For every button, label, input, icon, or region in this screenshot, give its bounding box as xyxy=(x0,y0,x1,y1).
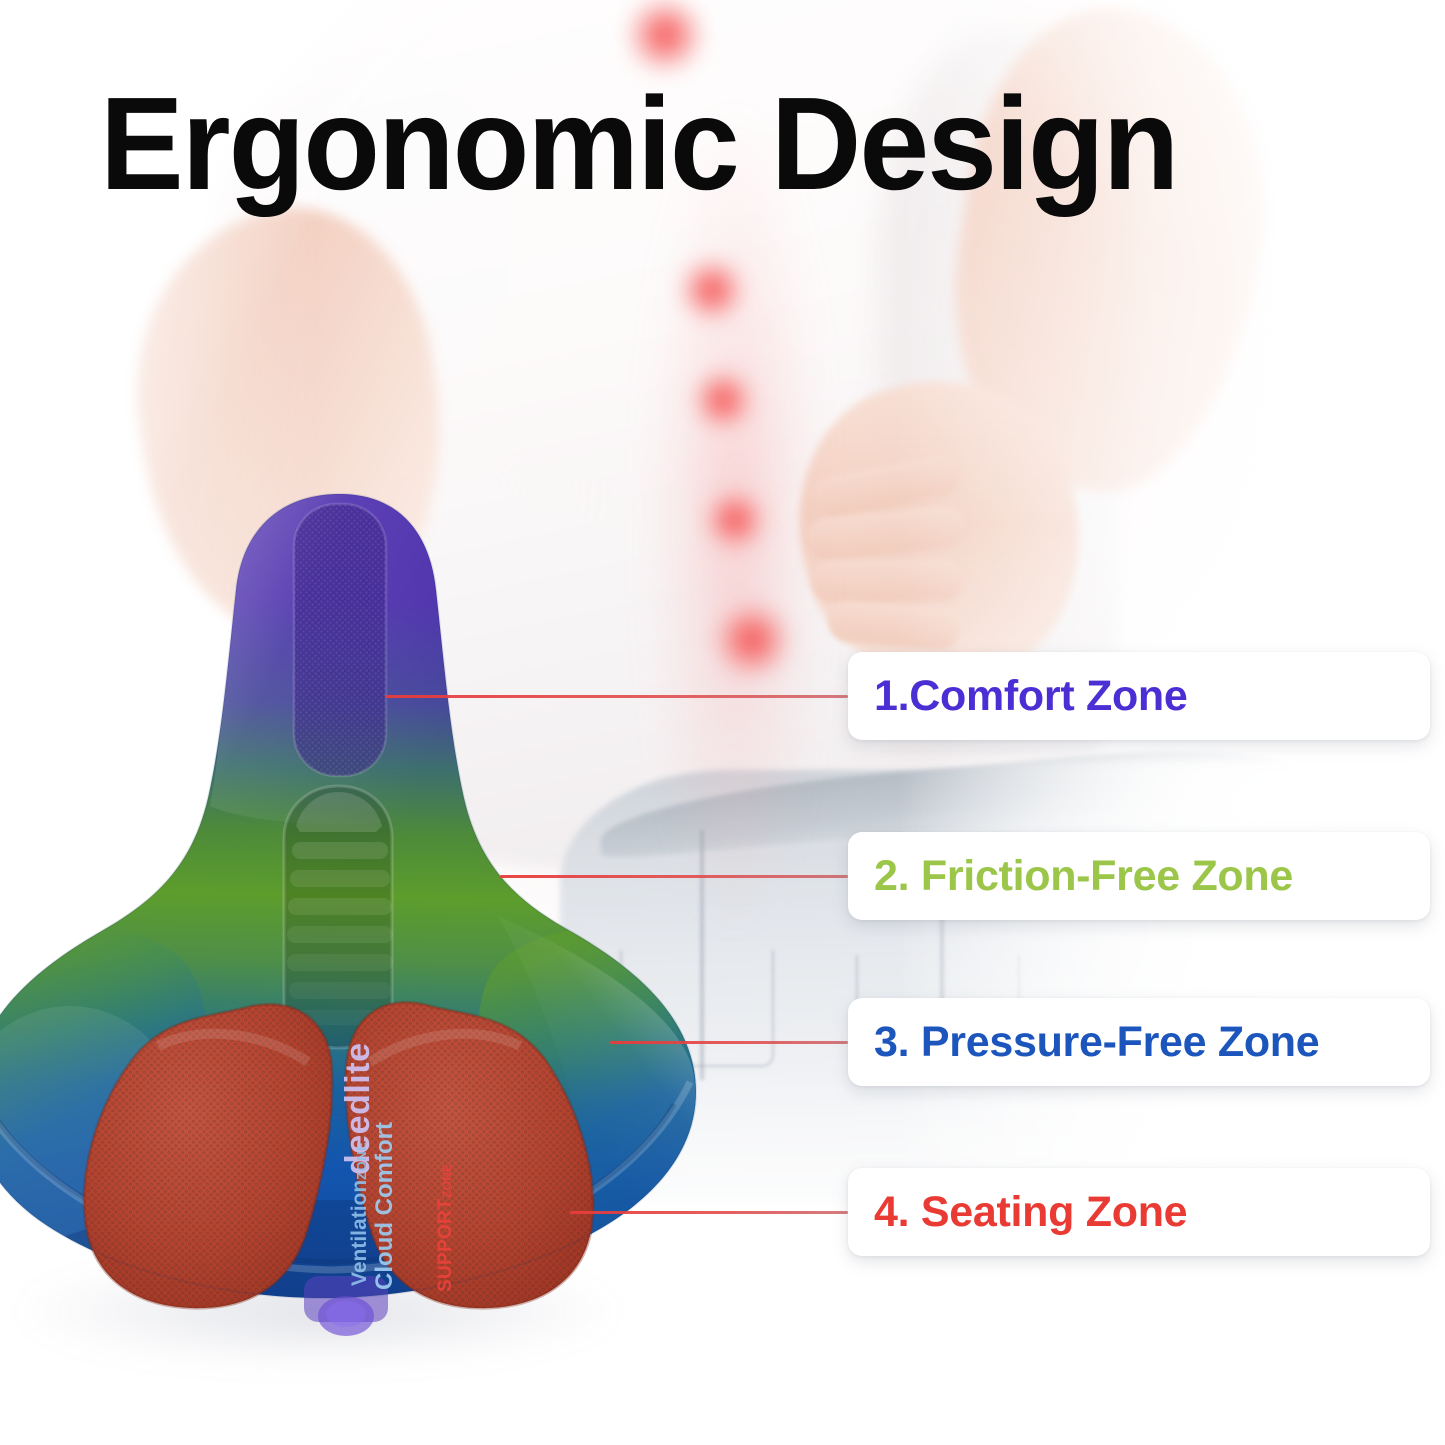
zone-card-3[interactable]: 3. Pressure-Free Zone xyxy=(848,998,1430,1086)
nose-grip-panel xyxy=(294,504,386,776)
page-title: Ergonomic Design xyxy=(100,78,1177,210)
leader-line-zone-1 xyxy=(385,695,848,698)
zone-card-1[interactable]: 1.Comfort Zone xyxy=(848,652,1430,740)
infographic-canvas: Ergonomic Design xyxy=(0,0,1445,1445)
pain-dot xyxy=(692,369,754,431)
zone-label-2: 2. Friction-Free Zone xyxy=(874,852,1293,901)
leader-line-zone-2 xyxy=(500,875,848,878)
saddle-svg xyxy=(0,486,718,1386)
leader-line-zone-4 xyxy=(570,1211,848,1214)
zone-card-4[interactable]: 4. Seating Zone xyxy=(848,1168,1430,1256)
zone-card-2[interactable]: 2. Friction-Free Zone xyxy=(848,832,1430,920)
zone-label-3: 3. Pressure-Free Zone xyxy=(874,1018,1319,1067)
saddle-body xyxy=(0,493,718,1373)
zone-label-4: 4. Seating Zone xyxy=(874,1188,1187,1237)
bike-saddle-illustration: deedlite xyxy=(0,486,718,1386)
pain-dot xyxy=(679,257,745,323)
pain-dot xyxy=(713,601,791,679)
leader-line-zone-3 xyxy=(610,1041,848,1044)
zone-label-1: 1.Comfort Zone xyxy=(874,672,1188,721)
rear-badge xyxy=(304,1276,388,1336)
